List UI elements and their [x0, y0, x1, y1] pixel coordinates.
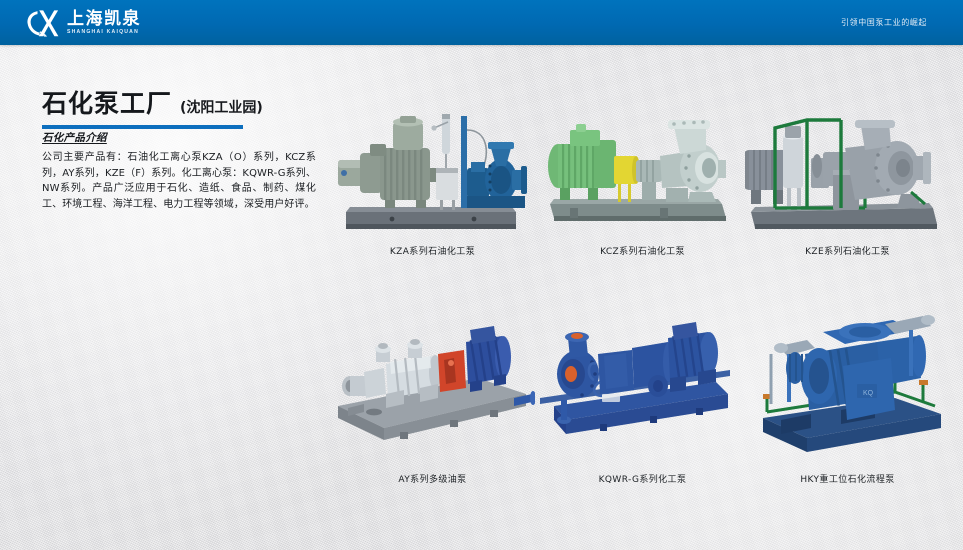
kaiquan-k-monogram-icon — [26, 9, 60, 38]
header-tagline: 引领中国泵工业的崛起 — [841, 0, 927, 45]
hky-process-pump-illustration: KQ — [745, 306, 950, 452]
product-caption: KZE系列石油化工泵 — [745, 244, 950, 257]
site-header: 上海凯泉 SHANGHAI KAIQUAN 引领中国泵工业的崛起 — [0, 0, 963, 45]
product-caption: KZA系列石油化工泵 — [330, 244, 535, 257]
page-subtitle: (沈阳工业园) — [180, 97, 263, 117]
product-photo-hky: KQ — [745, 306, 950, 452]
product-card-kze[interactable]: KZE系列石油化工泵 — [745, 108, 950, 257]
product-photo-kze — [745, 108, 950, 240]
svg-text:KQ: KQ — [863, 390, 874, 397]
kza-pump-illustration — [330, 108, 535, 240]
description-block: 石化产品介绍 公司主要产品有：石油化工离心泵KZA（O）系列，KCZ系列，AY系… — [42, 130, 316, 212]
product-photo-kcz — [540, 108, 745, 240]
product-grid: KZA系列石油化工泵 — [330, 108, 950, 508]
brand-name-en: SHANGHAI KAIQUAN — [67, 30, 142, 35]
brand-name-cn: 上海凯泉 — [67, 11, 141, 28]
brand-logo[interactable]: 上海凯泉 SHANGHAI KAIQUAN — [26, 8, 141, 38]
product-photo-kqwrg — [540, 320, 745, 452]
product-card-hky[interactable]: KQ — [745, 306, 950, 485]
kze-pump-illustration — [745, 108, 950, 240]
product-card-kqwrg[interactable]: KQWR-G系列化工泵 — [540, 320, 745, 485]
description-heading: 石化产品介绍 — [42, 130, 316, 145]
page-title-block: 石化泵工厂 (沈阳工业园) — [42, 84, 324, 129]
page-title: 石化泵工厂 — [42, 84, 172, 120]
product-card-kcz[interactable]: KCZ系列石油化工泵 — [540, 108, 745, 257]
product-caption: AY系列多级油泵 — [330, 472, 535, 485]
brand-wordmark: 上海凯泉 SHANGHAI KAIQUAN — [67, 11, 141, 35]
product-card-kza[interactable]: KZA系列石油化工泵 — [330, 108, 535, 257]
product-card-ay[interactable]: AY系列多级油泵 — [330, 320, 535, 485]
product-photo-ay — [330, 320, 535, 452]
product-caption: KCZ系列石油化工泵 — [540, 244, 745, 257]
kqwrg-pump-illustration — [540, 320, 745, 452]
brochure-page: 上海凯泉 SHANGHAI KAIQUAN 引领中国泵工业的崛起 石化泵工厂 (… — [0, 0, 963, 550]
description-body: 公司主要产品有：石油化工离心泵KZA（O）系列，KCZ系列，AY系列，KZE（F… — [42, 150, 316, 212]
product-caption: HKY重工位石化流程泵 — [745, 472, 950, 485]
product-caption: KQWR-G系列化工泵 — [540, 472, 745, 485]
title-underline-rule — [42, 125, 243, 129]
title-row: 石化泵工厂 (沈阳工业园) — [42, 84, 324, 120]
ay-multistage-pump-illustration — [330, 320, 535, 452]
product-photo-kza — [330, 108, 535, 240]
kcz-pump-illustration — [540, 108, 745, 240]
